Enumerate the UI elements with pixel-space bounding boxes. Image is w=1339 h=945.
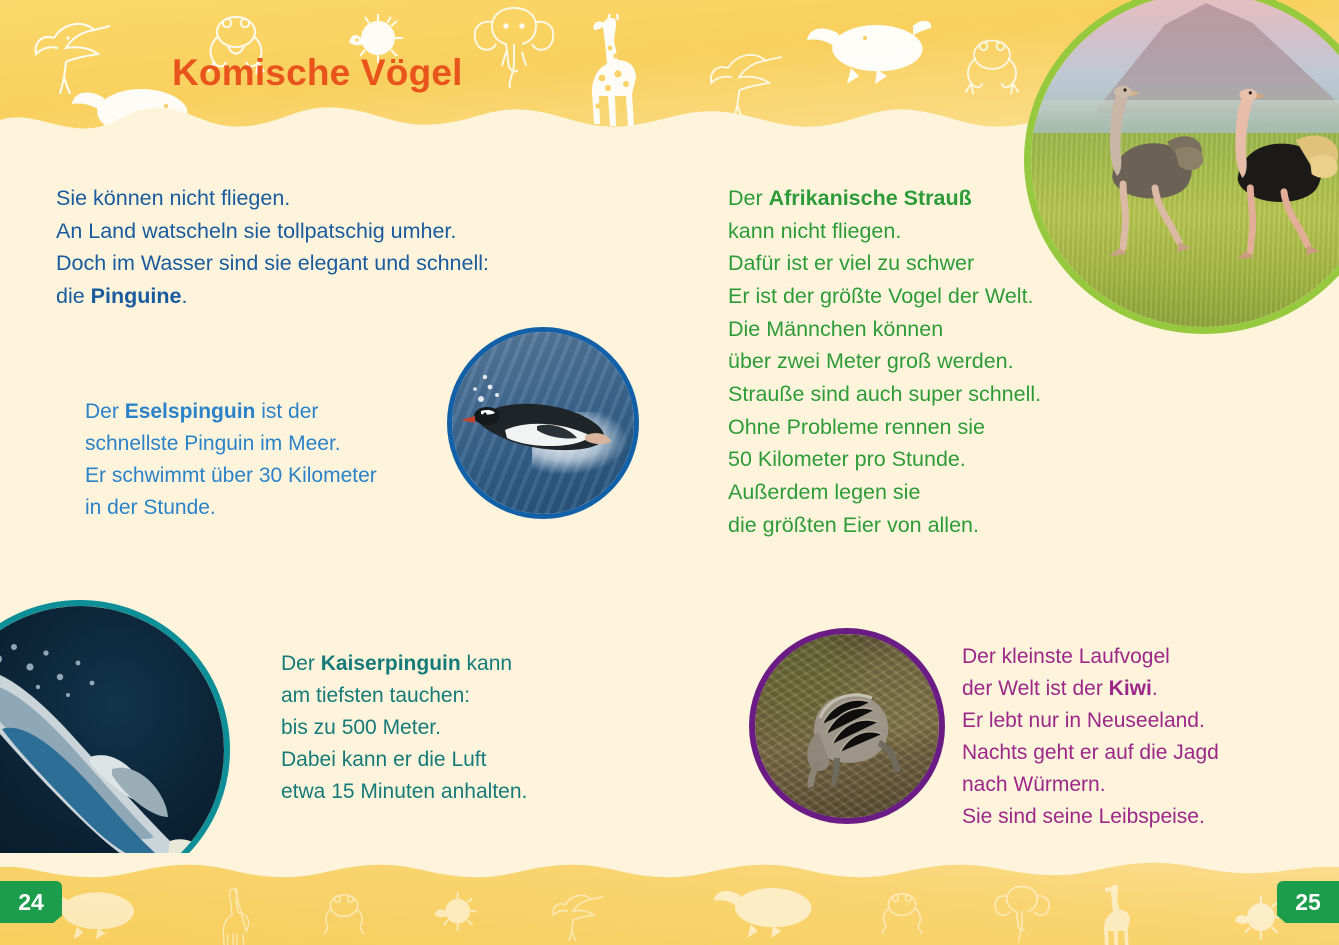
text-line: An Land watscheln sie tollpatschig umher… — [56, 215, 489, 248]
text-line: 50 Kilometer pro Stunde. — [728, 443, 1041, 476]
text-line: am tiefsten tauchen: — [281, 680, 527, 712]
text-line: Die Männchen können — [728, 313, 1041, 346]
kiwi-photo — [749, 628, 945, 824]
text-line: bis zu 500 Meter. — [281, 712, 527, 744]
text-line: Außerdem legen sie — [728, 476, 1041, 509]
text-line: Strauße sind auch super schnell. — [728, 378, 1041, 411]
text-line: über zwei Meter groß werden. — [728, 345, 1041, 378]
text-line: Ohne Probleme rennen sie — [728, 411, 1041, 444]
footer-wave-edge — [0, 853, 1339, 887]
text-line: Der kleinste Laufvogel — [962, 641, 1219, 673]
text-line: die Pinguine. — [56, 280, 489, 313]
text-line: etwa 15 Minuten anhalten. — [281, 776, 527, 808]
intro-text-block: Sie können nicht fliegen.An Land watsche… — [56, 182, 489, 313]
ostrich-text-block: Der Afrikanische Straußkann nicht fliege… — [728, 182, 1041, 541]
text-line: Dafür ist er viel zu schwer — [728, 247, 1041, 280]
ostrich-photo — [1024, 0, 1339, 334]
text-line: kann nicht fliegen. — [728, 215, 1041, 248]
text-line: Nachts geht er auf die Jagd — [962, 737, 1219, 769]
text-line: Der Afrikanische Strauß — [728, 182, 1041, 215]
text-line: der Welt ist der Kiwi. — [962, 673, 1219, 705]
text-line: Er lebt nur in Neuseeland. — [962, 705, 1219, 737]
text-line: Dabei kann er die Luft — [281, 744, 527, 776]
text-line: Sie können nicht fliegen. — [56, 182, 489, 215]
book-spread: Komische Vögel Sie können nicht fliegen.… — [0, 0, 1339, 945]
footer-band — [0, 853, 1339, 945]
text-line: Sie sind seine Leibspeise. — [962, 801, 1219, 833]
text-line: in der Stunde. — [85, 492, 377, 524]
gentoo-penguin-photo — [447, 327, 639, 519]
emperor-penguin-text-block: Der Kaiserpinguin kannam tiefsten tauche… — [281, 648, 527, 808]
text-line: Er schwimmt über 30 Kilometer — [85, 460, 377, 492]
page-title: Komische Vögel — [172, 52, 463, 94]
kiwi-text-block: Der kleinste Laufvogelder Welt ist der K… — [962, 641, 1219, 832]
page-number-right: 25 — [1277, 881, 1339, 923]
text-line: schnellste Pinguin im Meer. — [85, 428, 377, 460]
text-line: Doch im Wasser sind sie elegant und schn… — [56, 247, 489, 280]
gentoo-penguin-text-block: Der Eselspinguin ist derschnellste Pingu… — [85, 396, 377, 524]
text-line: Der Kaiserpinguin kann — [281, 648, 527, 680]
page-number-left: 24 — [0, 881, 62, 923]
whale-icon — [805, 12, 935, 90]
text-line: Der Eselspinguin ist der — [85, 396, 377, 428]
text-line: Er ist der größte Vogel der Welt. — [728, 280, 1041, 313]
text-line: nach Würmern. — [962, 769, 1219, 801]
text-line: die größten Eier von allen. — [728, 509, 1041, 542]
